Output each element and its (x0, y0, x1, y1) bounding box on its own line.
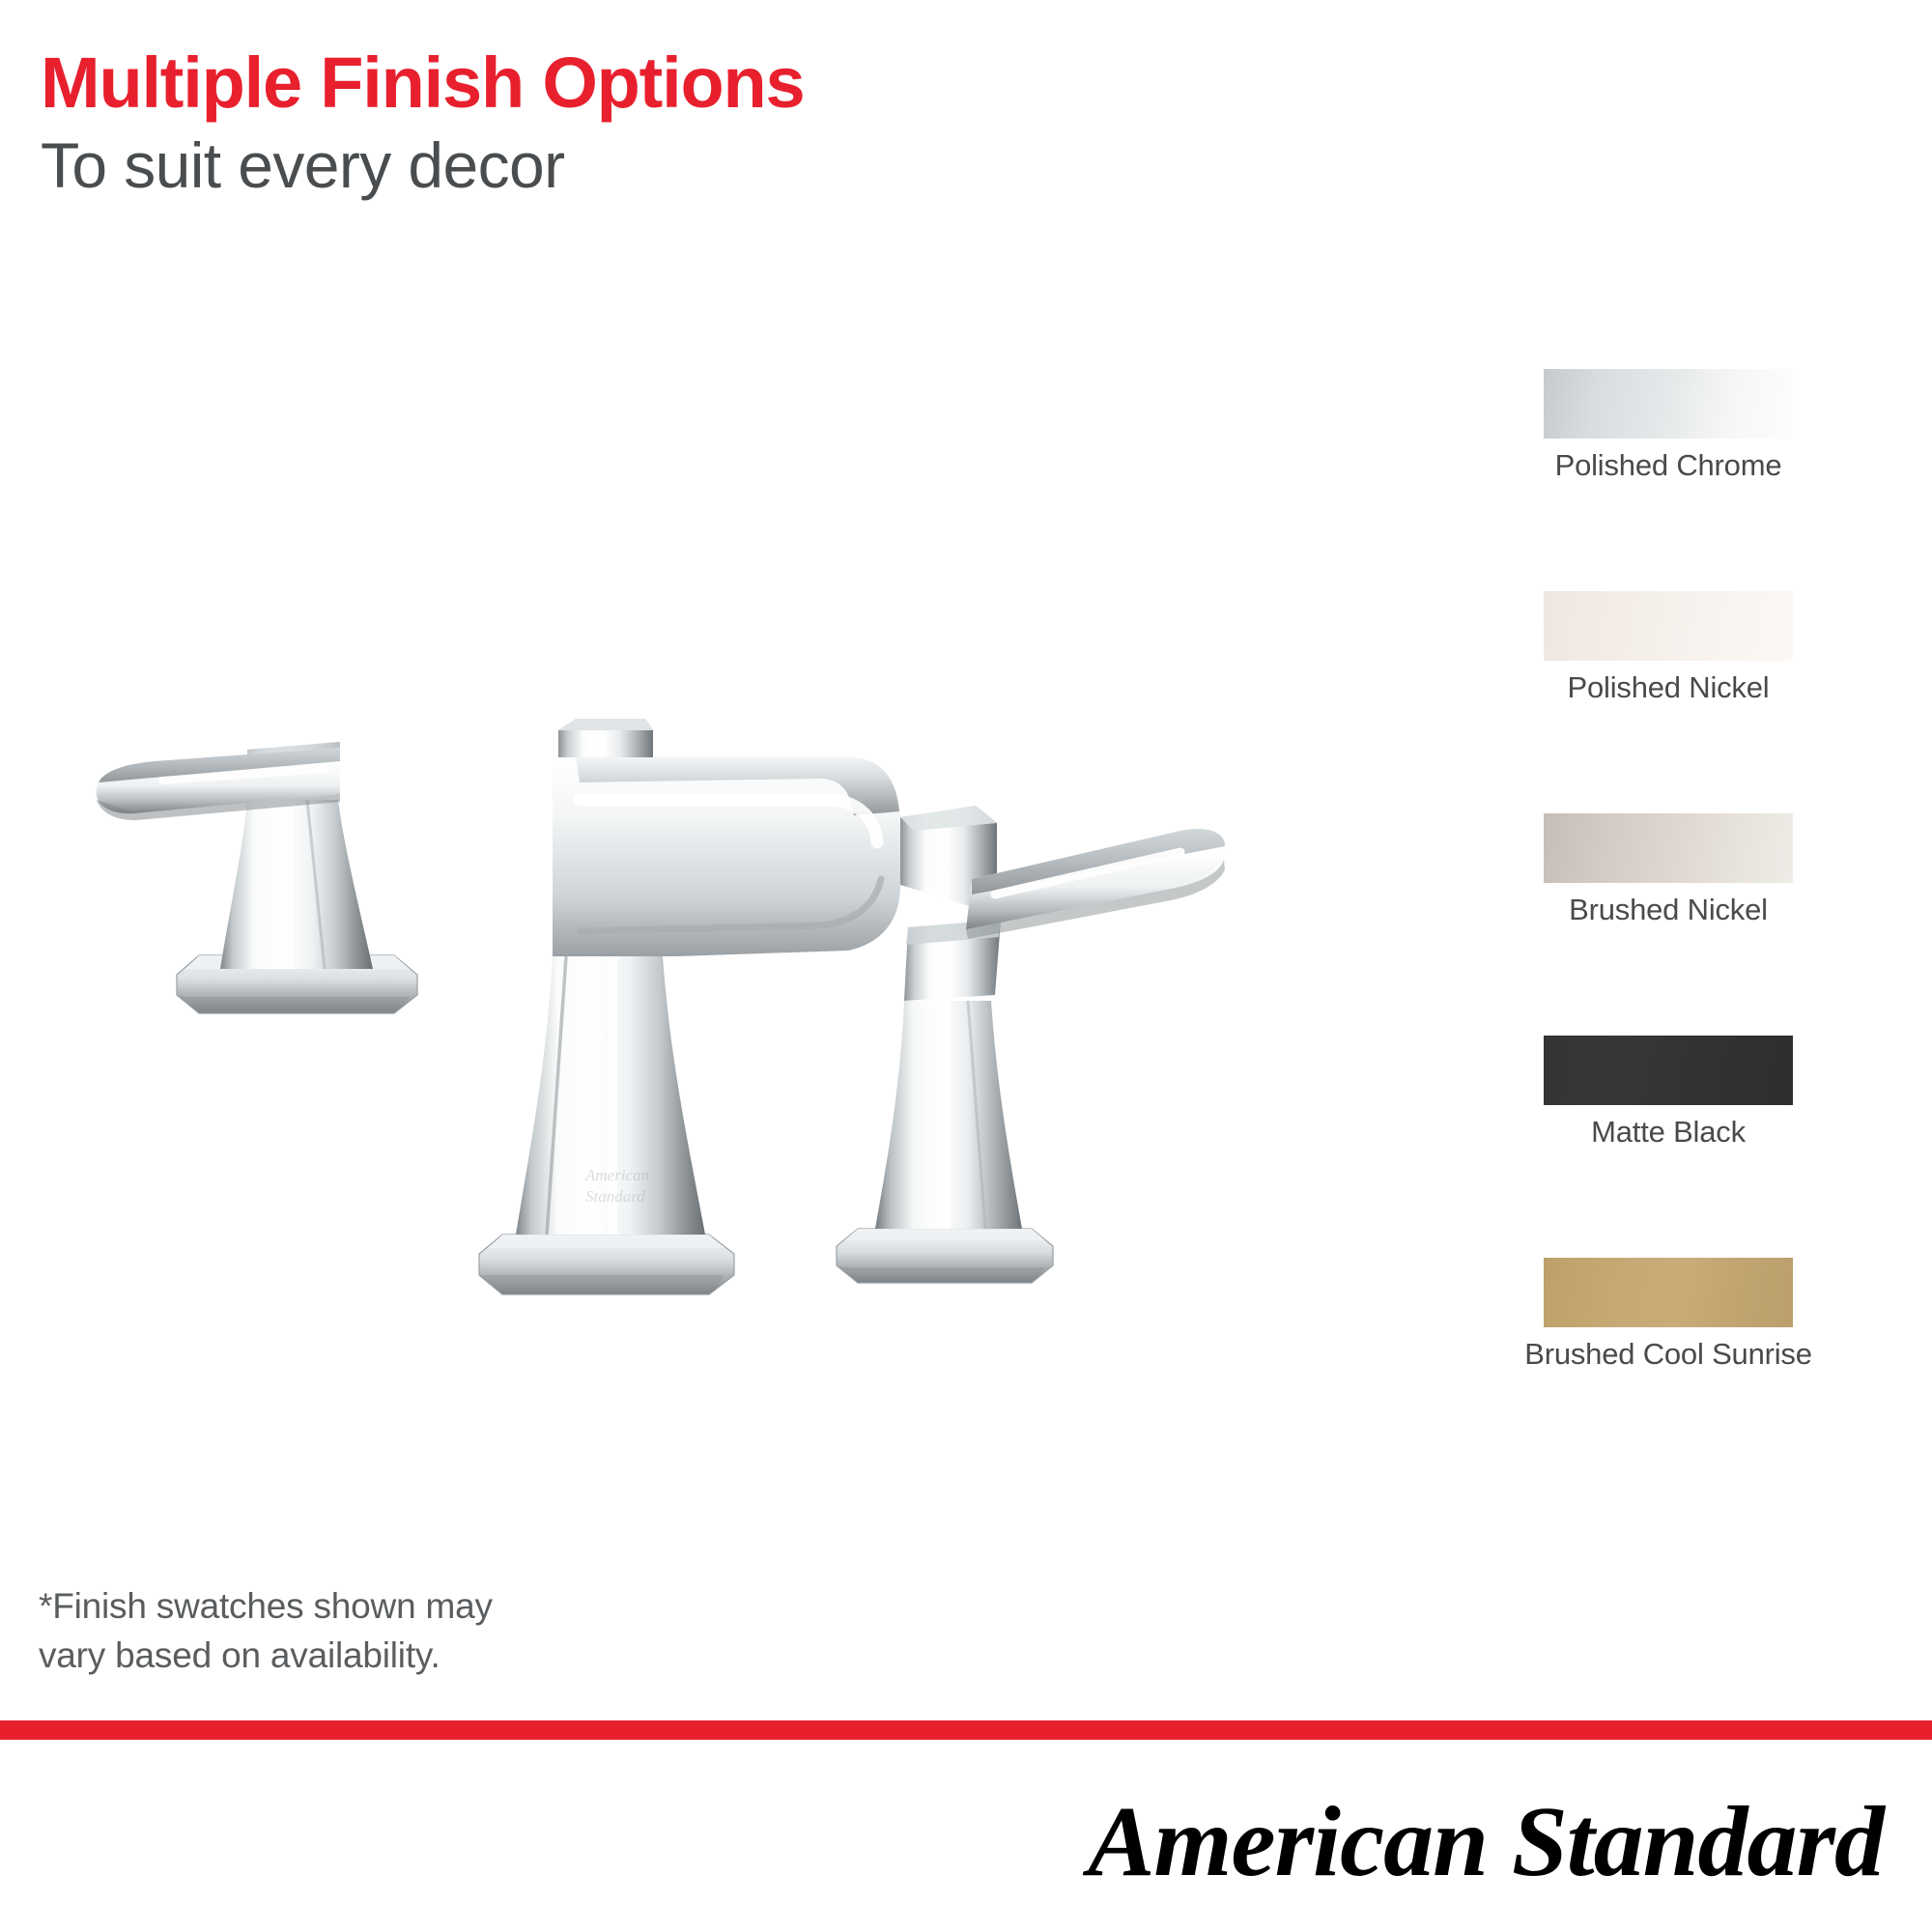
swatch-label-polished-chrome: Polished Chrome (1427, 448, 1910, 483)
wordmark-text: American Standard (1082, 1786, 1887, 1897)
faucet-illustration: American Standard (0, 541, 1449, 1314)
finish-option-polished-chrome[interactable]: Polished Chrome (1430, 348, 1913, 570)
disclaimer-line-1: *Finish swatches shown may (39, 1581, 493, 1631)
finish-option-matte-black[interactable]: Matte Black (1430, 1014, 1913, 1236)
swatch-chip-polished-chrome[interactable] (1544, 369, 1793, 439)
swatch-label-polished-nickel: Polished Nickel (1427, 670, 1910, 705)
svg-text:Standard: Standard (585, 1187, 645, 1206)
swatch-label-brushed-nickel: Brushed Nickel (1427, 893, 1910, 927)
american-standard-wordmark: American Standard (1039, 1780, 1889, 1906)
page-header: Multiple Finish Options To suit every de… (41, 46, 1200, 202)
finish-disclaimer: *Finish swatches shown may vary based on… (39, 1581, 493, 1680)
american-standard-logo: American Standard (1039, 1780, 1889, 1906)
brand-divider-rule (0, 1720, 1932, 1740)
page-subtitle: To suit every decor (41, 130, 1200, 202)
finish-option-brushed-nickel[interactable]: Brushed Nickel (1430, 792, 1913, 1014)
svg-text:American: American (584, 1166, 649, 1184)
finish-swatch-list: Polished Chrome Polished Nickel Brushed … (1430, 348, 1913, 1459)
disclaimer-line-2: vary based on availability. (39, 1631, 493, 1680)
left-lever-handle (97, 742, 417, 1013)
page-title: Multiple Finish Options (41, 46, 1200, 119)
swatch-label-matte-black: Matte Black (1427, 1115, 1910, 1150)
brand-footer: American Standard (0, 1740, 1932, 1932)
swatch-chip-matte-black[interactable] (1544, 1036, 1793, 1105)
swatch-chip-brushed-cool-sunrise[interactable] (1544, 1258, 1793, 1327)
finish-option-polished-nickel[interactable]: Polished Nickel (1430, 570, 1913, 792)
product-image: American Standard (0, 541, 1449, 1314)
finish-option-brushed-cool-sunrise[interactable]: Brushed Cool Sunrise (1430, 1236, 1913, 1459)
left-handle-column (220, 800, 373, 969)
swatch-label-brushed-cool-sunrise: Brushed Cool Sunrise (1427, 1337, 1910, 1372)
swatch-chip-polished-nickel[interactable] (1544, 591, 1793, 661)
swatch-chip-brushed-nickel[interactable] (1544, 813, 1793, 883)
